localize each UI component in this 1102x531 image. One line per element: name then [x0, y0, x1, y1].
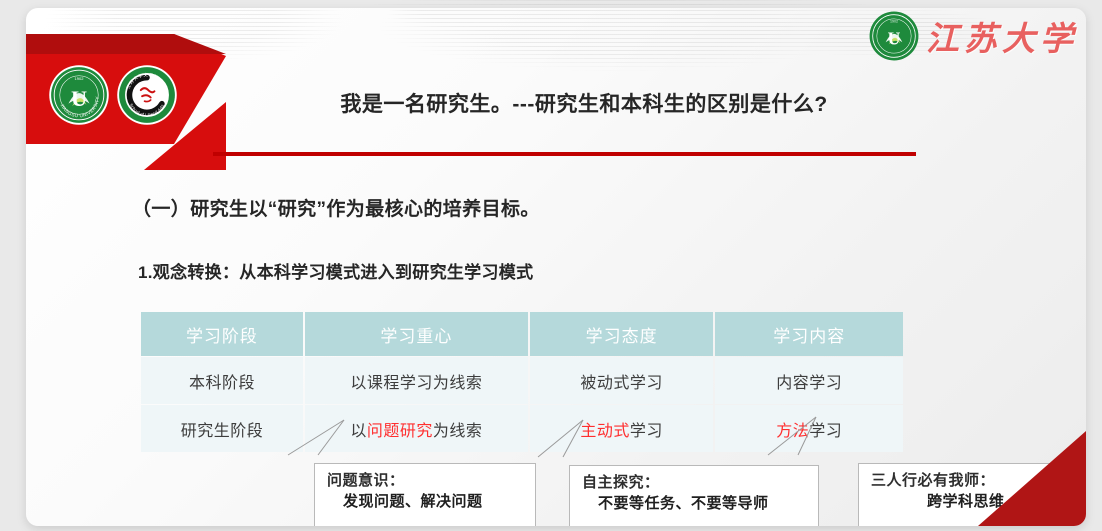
cell-stage: 本科阶段: [141, 357, 303, 404]
cell-attitude-highlight: 主动式: [580, 423, 630, 440]
table-row: 本科阶段 以课程学习为线索 被动式学习 内容学习: [141, 357, 903, 404]
comparison-table: 学习阶段 学习重心 学习态度 学习内容 本科阶段 以课程学习为线索 被动式学习 …: [139, 311, 905, 453]
cell-content-suffix: 学习: [809, 423, 842, 440]
svg-text:1902: 1902: [75, 76, 85, 81]
subsection-heading: 1.观念转换：从本科学习模式进入到研究生学习模式: [138, 258, 533, 283]
cell-focus-highlight: 问题研究: [367, 423, 433, 440]
slide-title: 我是一名研究生。---研究生和本科生的区别是什么?: [239, 88, 929, 118]
column-header-content: 学习内容: [715, 312, 903, 356]
school-of-liberal-arts-seal-icon: 江苏大学文学院 School of Liberal Arts: [116, 64, 178, 126]
svg-text:U: U: [71, 86, 87, 111]
jiangsu-university-logo-icon: U 1902: [868, 10, 920, 62]
column-header-focus: 学习重心: [305, 312, 528, 356]
banner-top-strip: [26, 34, 226, 54]
svg-text:1902: 1902: [890, 19, 898, 23]
title-underline-rule: [213, 152, 916, 156]
section-heading: （一）研究生以“研究”作为最核心的培养目标。: [132, 194, 540, 221]
university-name-text: 江苏大学: [926, 12, 1078, 60]
cell-content: 内容学习: [715, 357, 903, 404]
callout-problem-awareness: 问题意识： 发现问题、解决问题: [314, 463, 536, 526]
cell-focus-text: 以课程学习为线索: [350, 375, 482, 392]
logo-banner: U 1902 JIANGSU UNIVERSITY 江苏大学文学院: [26, 34, 226, 144]
callout-detail: 不要等任务、不要等导师: [582, 493, 808, 515]
cell-focus: 以课程学习为线索: [305, 357, 528, 404]
cell-attitude-text: 被动式学习: [580, 375, 663, 392]
callout-title: 问题意识：: [327, 471, 525, 491]
callout-self-directed-inquiry: 自主探究： 不要等任务、不要等导师: [569, 465, 819, 526]
cell-focus: 以问题研究为线索: [305, 405, 528, 452]
column-header-stage: 学习阶段: [141, 312, 303, 356]
cell-content: 方法学习: [715, 405, 903, 452]
presentation-slide: U 1902 江苏大学 U 1902 JIANGSU UNIVERSIT: [26, 8, 1086, 526]
cell-attitude: 主动式学习: [530, 405, 714, 452]
jiangsu-university-seal-icon: U 1902 JIANGSU UNIVERSITY: [48, 64, 110, 126]
table-header-row: 学习阶段 学习重心 学习态度 学习内容: [141, 312, 903, 356]
university-brand-mark: U 1902 江苏大学: [868, 10, 1078, 62]
cell-attitude: 被动式学习: [530, 357, 714, 404]
callout-title: 自主探究：: [582, 473, 808, 493]
column-header-attitude: 学习态度: [530, 312, 714, 356]
cell-stage: 研究生阶段: [141, 405, 303, 452]
cell-focus-suffix: 为线索: [433, 423, 483, 440]
cell-focus-prefix: 以: [350, 423, 367, 440]
cell-content-text: 内容学习: [776, 375, 842, 392]
slide-stage: U 1902 江苏大学 U 1902 JIANGSU UNIVERSIT: [0, 0, 1102, 531]
table-row: 研究生阶段 以问题研究为线索 主动式学习 方法学习: [141, 405, 903, 452]
svg-text:U: U: [888, 28, 901, 48]
cell-content-highlight: 方法: [776, 423, 809, 440]
callout-detail: 发现问题、解决问题: [327, 491, 525, 513]
cell-attitude-suffix: 学习: [630, 423, 663, 440]
